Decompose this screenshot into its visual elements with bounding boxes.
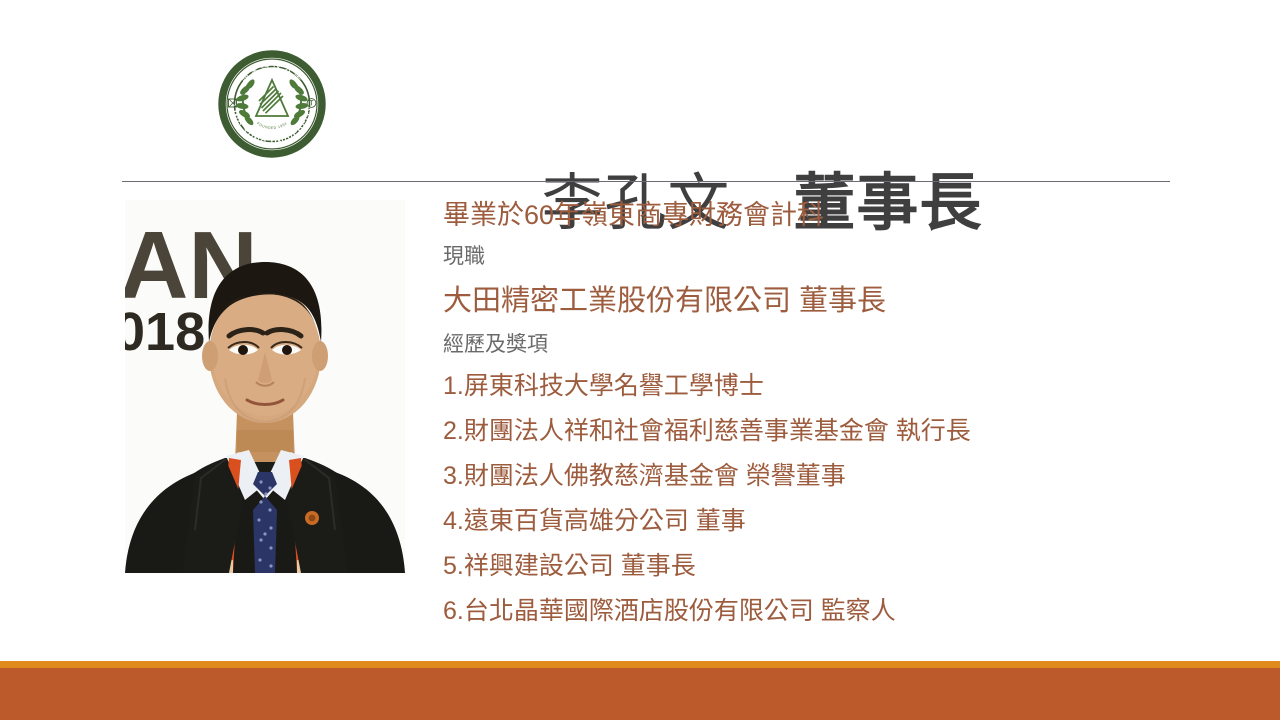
- current-position-label: 現職: [443, 238, 1243, 276]
- experience-item: 5.祥興建設公司 董事長: [443, 544, 1243, 589]
- experience-item: 2.財團法人祥和社會福利慈善事業基金會 執行長: [443, 409, 1243, 454]
- slide-root: 嶺東科技大學 LING TUNG UNIVERSITY FOUNDED 1964: [0, 0, 1280, 720]
- portrait-photo: AN 018: [125, 200, 405, 573]
- experience-label: 經歷及獎項: [443, 326, 1243, 364]
- education-line: 畢業於60年嶺東商專財務會計科: [443, 192, 1243, 238]
- title-divider: [122, 181, 1170, 182]
- biography-details: 畢業於60年嶺東商專財務會計科 現職 大田精密工業股份有限公司 董事長 經歷及獎…: [443, 192, 1243, 634]
- experience-item: 1.屏東科技大學名譽工學博士: [443, 364, 1243, 409]
- footer-accent-bar: [0, 661, 1280, 668]
- experience-item: 6.台北晶華國際酒店股份有限公司 監察人: [443, 589, 1243, 634]
- current-position-value: 大田精密工業股份有限公司 董事長: [443, 276, 1243, 326]
- experience-item: 4.遠東百貨高雄分公司 董事: [443, 499, 1243, 544]
- footer-band: [0, 668, 1280, 720]
- svg-text:018: 018: [125, 302, 205, 362]
- experience-item: 3.財團法人佛教慈濟基金會 榮譽董事: [443, 454, 1243, 499]
- slide-header: 嶺東科技大學 LING TUNG UNIVERSITY FOUNDED 1964: [0, 0, 1280, 182]
- university-logo-icon: 嶺東科技大學 LING TUNG UNIVERSITY FOUNDED 1964: [216, 48, 328, 160]
